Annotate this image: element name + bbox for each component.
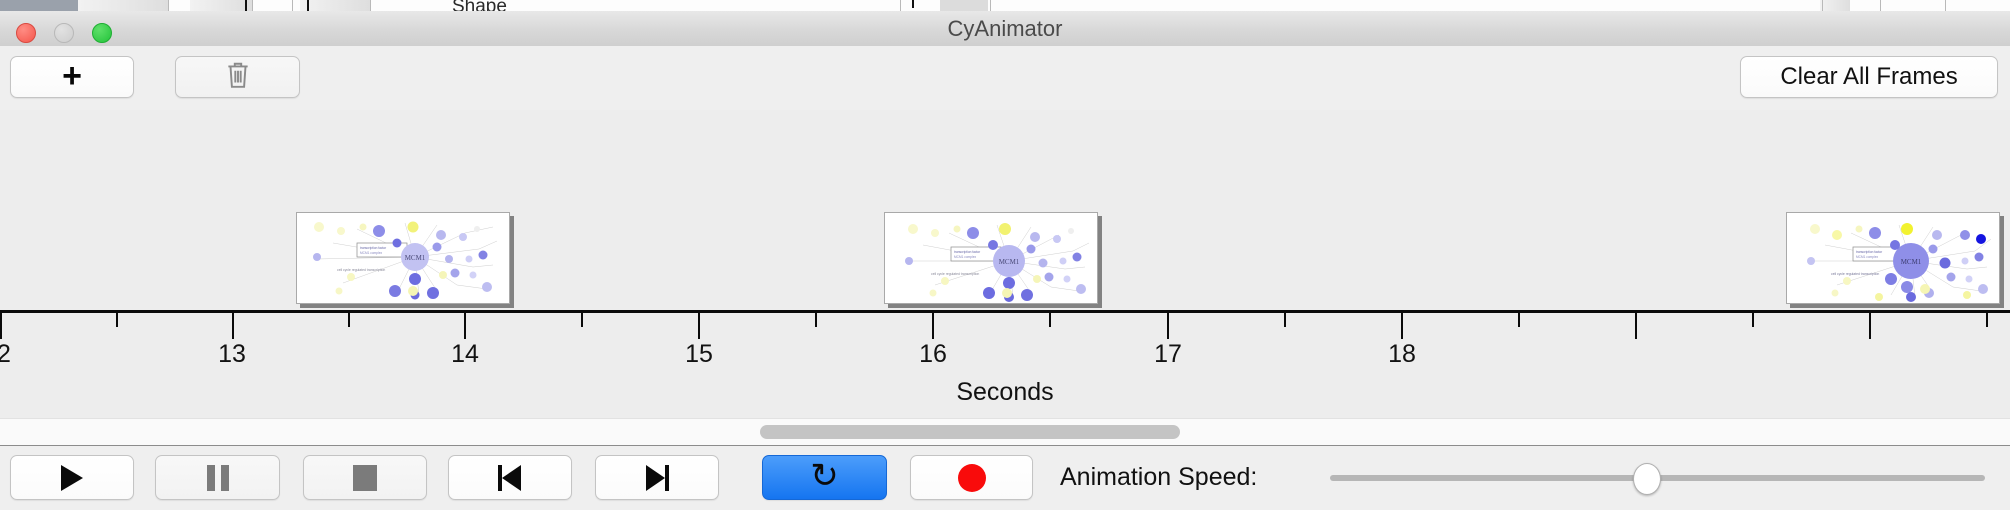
tick-minor	[1986, 313, 1988, 327]
svg-text:cell cycle regulated transcrip: cell cycle regulated transcription	[337, 268, 385, 272]
svg-text:transcription factor: transcription factor	[360, 246, 387, 250]
svg-text:MCM1: MCM1	[405, 254, 426, 262]
svg-text:MCM1 complex: MCM1 complex	[1856, 255, 1879, 259]
tick-label: 2	[0, 340, 11, 369]
title-bar: CyAnimator	[0, 11, 2010, 47]
tick-minor	[1752, 313, 1754, 327]
tick-label: 14	[451, 340, 479, 369]
tick-minor	[581, 313, 583, 327]
ruler-baseline	[0, 310, 2010, 313]
svg-text:MCM1: MCM1	[1901, 258, 1922, 266]
tick-minor	[116, 313, 118, 327]
tick-major	[0, 313, 2, 339]
tick-minor	[348, 313, 350, 327]
svg-text:MCM1: MCM1	[999, 258, 1020, 266]
svg-text:MCM1 complex: MCM1 complex	[360, 251, 383, 255]
tick-label: 17	[1154, 340, 1182, 369]
tick-label: 15	[685, 340, 713, 369]
scrollbar-thumb[interactable]	[760, 425, 1180, 439]
loop-button[interactable]: ↻	[762, 455, 887, 500]
svg-text:cell cycle regulated transcrip: cell cycle regulated transcription	[931, 272, 979, 276]
svg-text:transcription factor: transcription factor	[954, 250, 981, 254]
frame-thumbnail[interactable]: transcription factor MCM1 complex cell c…	[884, 212, 1098, 304]
tick-major	[1167, 313, 1169, 339]
tick-major	[1869, 313, 1871, 339]
playback-control-bar: ↻ Animation Speed:	[0, 445, 2010, 510]
tick-major	[698, 313, 700, 339]
delete-frame-button[interactable]	[175, 56, 300, 98]
tick-minor	[1049, 313, 1051, 327]
network-thumbnail-graph: transcription factor MCM1 complex cell c…	[885, 213, 1097, 303]
tick-major	[1635, 313, 1637, 339]
tick-label: 18	[1388, 340, 1416, 369]
network-thumbnail-graph: transcription factor MCM1 complex cell c…	[1787, 213, 1999, 303]
frame-thumbnail[interactable]: transcription factor MCM1 complex cell c…	[1786, 212, 2000, 304]
axis-title: Seconds	[0, 378, 2010, 407]
plus-icon: +	[62, 59, 82, 93]
tick-major	[464, 313, 466, 339]
play-button[interactable]	[10, 455, 134, 500]
stop-icon	[353, 465, 377, 491]
record-icon	[958, 464, 986, 492]
loop-icon: ↻	[810, 459, 839, 493]
add-frame-button[interactable]: +	[10, 56, 134, 98]
tick-label: 16	[919, 340, 947, 369]
tick-minor	[1284, 313, 1286, 327]
animation-speed-label: Animation Speed:	[1060, 455, 1257, 500]
slider-knob[interactable]	[1633, 463, 1661, 495]
clear-all-frames-button[interactable]: Clear All Frames	[1740, 56, 1998, 98]
tick-major	[1401, 313, 1403, 339]
tick-label: 13	[218, 340, 246, 369]
tick-major	[232, 313, 234, 339]
step-back-button[interactable]	[448, 455, 572, 500]
network-thumbnail-graph: transcription factor MCM1 complex cell c…	[297, 213, 509, 303]
trash-icon	[225, 60, 251, 95]
clear-all-frames-label: Clear All Frames	[1780, 63, 1957, 91]
timeline-scrollbar[interactable]	[0, 418, 2010, 446]
step-forward-button[interactable]	[595, 455, 719, 500]
pause-icon	[207, 465, 229, 491]
stop-button[interactable]	[303, 455, 427, 500]
frame-thumbnail[interactable]: transcription factor MCM1 complex cell c…	[296, 212, 510, 304]
record-button[interactable]	[910, 455, 1033, 500]
svg-text:MCM1 complex: MCM1 complex	[954, 255, 977, 259]
toolbar: + Clear All Frames	[0, 46, 2010, 111]
window-title: CyAnimator	[0, 11, 2010, 46]
svg-text:cell cycle regulated transcrip: cell cycle regulated transcription	[1831, 272, 1879, 276]
skip-next-icon	[645, 465, 669, 491]
play-icon	[61, 465, 83, 491]
timeline-canvas[interactable]: transcription factor MCM1 complex cell c…	[0, 110, 2010, 310]
skip-previous-icon	[498, 465, 522, 491]
animation-speed-slider[interactable]	[1330, 455, 1985, 500]
tick-major	[932, 313, 934, 339]
cyanimator-window: Shape CyAnimator + C	[0, 0, 2010, 510]
svg-text:transcription factor: transcription factor	[1856, 250, 1883, 254]
pause-button[interactable]	[155, 455, 280, 500]
timeline-ruler[interactable]: 2 13 14 15 16 17 18 Seconds	[0, 310, 2010, 418]
tick-minor	[815, 313, 817, 327]
tick-minor	[1518, 313, 1520, 327]
